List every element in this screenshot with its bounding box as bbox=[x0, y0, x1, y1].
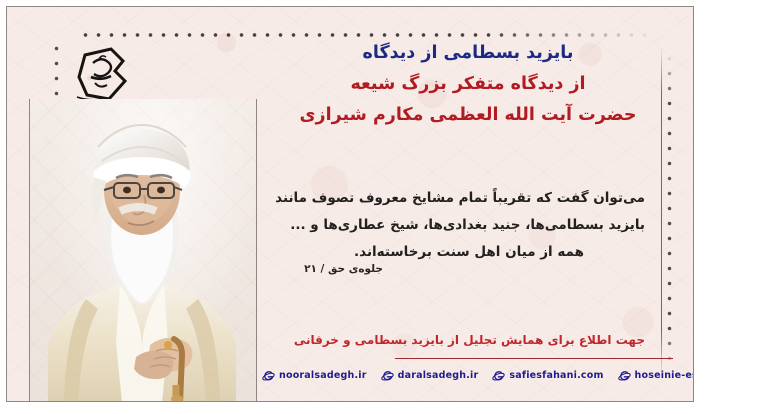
ornament-top-border bbox=[79, 29, 659, 41]
quote-line-2: بایزید بسطامی‌ها، جنید بغدادی‌ها، شیخ عط… bbox=[293, 212, 645, 239]
internet-explorer-icon bbox=[492, 369, 505, 382]
quote-line-3: همه از میان اهل سنت برخاسته‌اند. bbox=[293, 239, 645, 266]
ornament-right-rule bbox=[661, 47, 662, 377]
announcement-text: جهت اطلاع برای همایش تجلیل از بایزید بسط… bbox=[345, 333, 645, 347]
website-url-2: daralsadegh.ir bbox=[398, 370, 479, 381]
quote-citation: جلوه‌ی حق / ۲۱ bbox=[304, 263, 383, 275]
website-link-4[interactable]: hoseinie-esf.ir bbox=[618, 369, 694, 382]
website-link-2[interactable]: daralsadegh.ir bbox=[381, 369, 479, 382]
title-line-3: حضرت آیت الله العظمی مکارم شیرازی bbox=[283, 103, 653, 127]
title-line-2: از دیدگاه متفکر بزرگ شیعه bbox=[283, 72, 653, 96]
website-url-4: hoseinie-esf.ir bbox=[635, 370, 694, 381]
title-block: بایزید بسطامی از دیدگاه از دیدگاه متفکر … bbox=[283, 41, 653, 134]
poster-canvas: بایزید بسطامی از دیدگاه از دیدگاه متفکر … bbox=[6, 6, 694, 402]
website-links: nooralsadegh.ir daralsadegh.ir safiesfah… bbox=[262, 369, 694, 382]
website-url-3: safiesfahani.com bbox=[509, 370, 603, 381]
quote-body: می‌توان گفت که تقریباً تمام مشایخ معروف … bbox=[293, 185, 645, 266]
internet-explorer-icon bbox=[381, 369, 394, 382]
title-line-1: بایزید بسطامی از دیدگاه bbox=[283, 41, 653, 65]
quote-line-1: می‌توان گفت که تقریباً تمام مشایخ معروف … bbox=[293, 185, 645, 212]
internet-explorer-icon bbox=[618, 369, 631, 382]
announcement-underline bbox=[395, 358, 673, 359]
website-url-1: nooralsadegh.ir bbox=[279, 370, 367, 381]
portrait-illustration bbox=[29, 99, 256, 402]
portrait-frame bbox=[29, 99, 257, 402]
website-link-3[interactable]: safiesfahani.com bbox=[492, 369, 603, 382]
internet-explorer-icon bbox=[262, 369, 275, 382]
website-link-1[interactable]: nooralsadegh.ir bbox=[262, 369, 367, 382]
ornament-right-border bbox=[664, 51, 675, 371]
